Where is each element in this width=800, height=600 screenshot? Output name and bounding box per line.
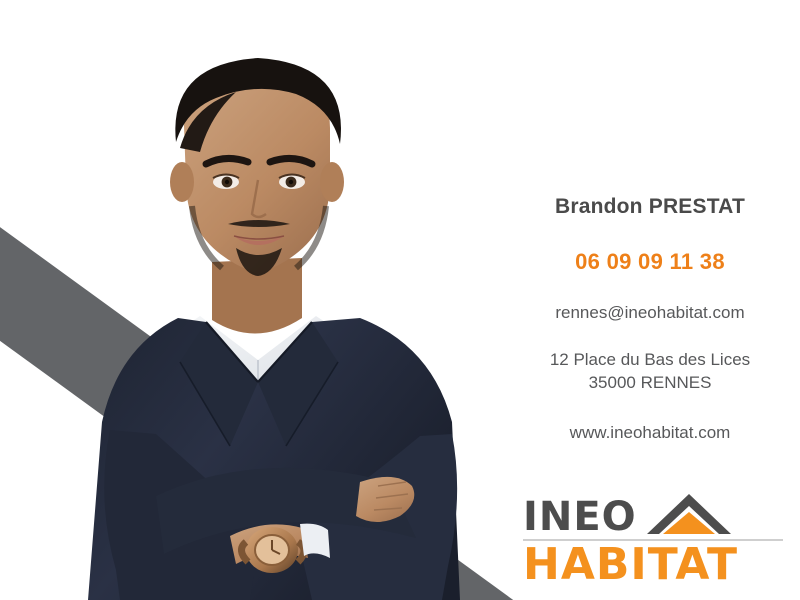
contact-address-line2: 35000 RENNES: [500, 372, 800, 395]
contact-details: Brandon PRESTAT 06 09 09 11 38 rennes@in…: [500, 195, 800, 443]
logo-word-habitat: HABITAT: [523, 543, 783, 587]
contact-website[interactable]: www.ineohabitat.com: [500, 423, 800, 443]
contact-email[interactable]: rennes@ineohabitat.com: [500, 303, 800, 323]
contact-address: 12 Place du Bas des Lices 35000 RENNES: [500, 349, 800, 395]
contact-phone[interactable]: 06 09 09 11 38: [500, 249, 800, 275]
portrait-photo: [60, 30, 510, 600]
contact-name: Brandon PRESTAT: [500, 195, 800, 219]
logo-word-ineo: INEO: [523, 498, 637, 536]
company-logo[interactable]: INEO HABITAT: [523, 492, 783, 587]
orange-corner-stripe-top-right: [610, 0, 800, 80]
roof-chevron-icon: [643, 492, 735, 536]
logo-top-row: INEO: [523, 492, 783, 536]
contact-address-line1: 12 Place du Bas des Lices: [500, 349, 800, 372]
business-card: Brandon PRESTAT 06 09 09 11 38 rennes@in…: [0, 0, 800, 600]
